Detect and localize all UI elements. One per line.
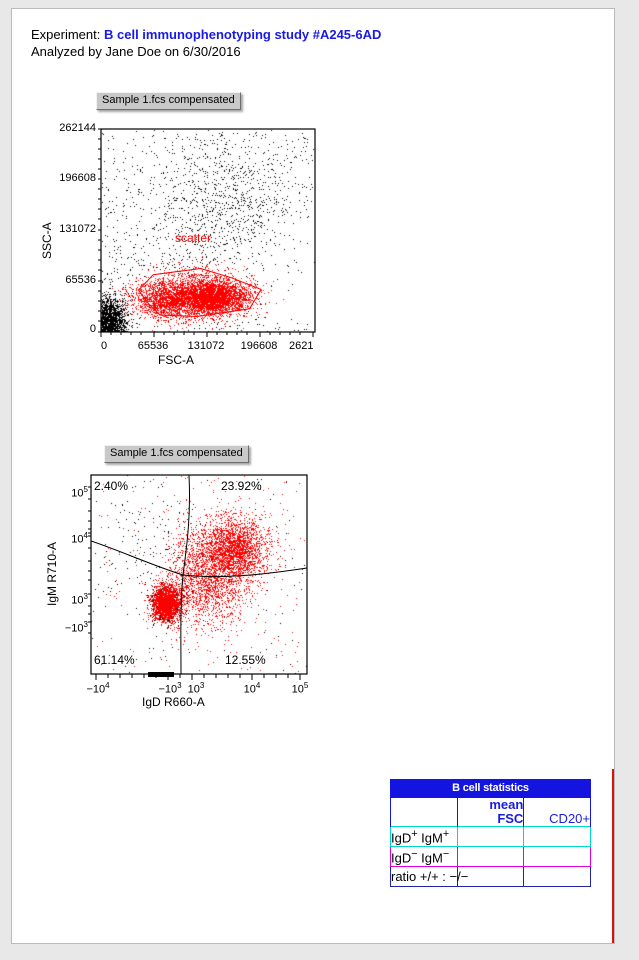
document-page: Experiment: B cell immunophenotyping stu… <box>11 8 615 944</box>
stats-table-title-row: B cell statistics <box>391 780 591 798</box>
plot2-axes <box>88 473 328 703</box>
plot1-xtick-131072: 131072 <box>181 340 231 352</box>
b-cell-statistics-table[interactable]: B cell statistics mean FSC CD20+ IgD+ Ig… <box>390 779 591 887</box>
stats-cell-meanfsc-igd-pos[interactable] <box>457 827 524 847</box>
plot1-xtick-262144: 2621 <box>289 340 329 352</box>
plot1-axes <box>98 127 336 359</box>
plot1-ytick-65536: 65536 <box>46 274 96 286</box>
stats-header-blank <box>391 798 458 827</box>
stats-row-ratio[interactable]: ratio +/+ : −/− <box>391 867 591 887</box>
plot2-ytick-1e3: 103 <box>56 592 88 607</box>
plot2-quadrant-upper-left: 2.40% <box>94 479 128 493</box>
stats-row-label-ratio: ratio +/+ : −/− <box>391 867 458 887</box>
plot2-title-box[interactable]: Sample 1.fcs compensated <box>104 445 249 463</box>
plot1-gate-label[interactable]: scatter <box>175 231 211 245</box>
plot1-xtick-65536: 65536 <box>128 340 178 352</box>
plot2-ytick-neg1e3: −103 <box>50 620 88 635</box>
plot-panel-scatter: Sample 1.fcs compensated SSC-A 262144 19… <box>12 9 342 379</box>
plot1-title-box[interactable]: Sample 1.fcs compensated <box>96 92 241 110</box>
stats-row-label-igd-neg-igm-neg: IgD− IgM− <box>391 847 458 867</box>
stats-row-igd-pos-igm-pos[interactable]: IgD+ IgM+ <box>391 827 591 847</box>
right-margin-red-line <box>612 769 614 944</box>
plot1-xtick-196608: 196608 <box>234 340 284 352</box>
stats-row-label-igd-pos-igm-pos: IgD+ IgM+ <box>391 827 458 847</box>
stats-header-fsc-word: FSC <box>497 811 523 826</box>
stats-table-title: B cell statistics <box>391 780 591 798</box>
screenshot-root: Experiment: B cell immunophenotyping stu… <box>0 0 639 960</box>
stats-cell-cd20-igd-neg[interactable] <box>524 847 591 867</box>
plot2-ytick-1e4: 104 <box>56 531 88 546</box>
plot1-xtick-0: 0 <box>98 340 110 352</box>
stats-cell-cd20-ratio[interactable] <box>524 867 591 887</box>
plot1-ytick-0: 0 <box>46 323 96 335</box>
plot2-xtick-neg1e4: −104 <box>78 681 118 696</box>
plot2-quadrant-upper-right: 23.92% <box>221 479 262 493</box>
stats-cell-cd20-igd-pos[interactable] <box>524 827 591 847</box>
plot2-x-axis-title: IgD R660-A <box>142 695 252 709</box>
plot2-xtick-1e3: 103 <box>180 681 212 696</box>
plot-panel-quadrant: Sample 1.fcs compensated IgM R710-A 105 … <box>12 354 342 724</box>
plot1-ytick-262144: 262144 <box>46 122 96 134</box>
stats-header-cd20: CD20+ <box>524 798 591 827</box>
plot2-quadrant-lower-right: 12.55% <box>225 653 266 667</box>
plot2-xtick-1e4: 104 <box>236 681 268 696</box>
stats-header-mean-fsc: mean FSC <box>457 798 524 827</box>
stats-row-igd-neg-igm-neg[interactable]: IgD− IgM− <box>391 847 591 867</box>
stats-header-mean-word: mean <box>489 797 523 812</box>
plot2-xtick-1e5: 105 <box>284 681 316 696</box>
plot2-ytick-1e5: 105 <box>56 485 88 500</box>
stats-table-header-row: mean FSC CD20+ <box>391 798 591 827</box>
plot2-quadrant-lower-left: 61.14% <box>94 653 135 667</box>
plot1-ytick-131072: 131072 <box>46 223 96 235</box>
plot1-ytick-196608: 196608 <box>46 172 96 184</box>
stats-cell-meanfsc-igd-neg[interactable] <box>457 847 524 867</box>
